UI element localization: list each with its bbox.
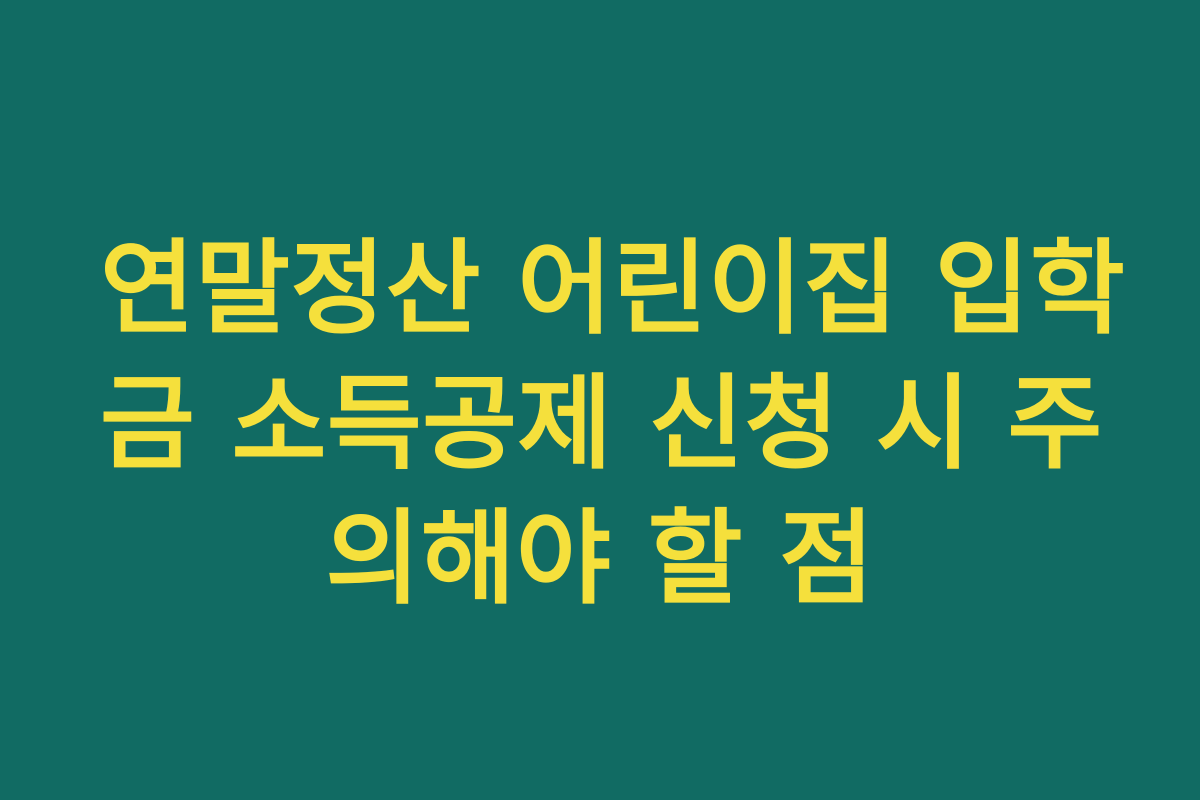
- headline-line-3: 의해야 할 점: [100, 492, 1100, 627]
- headline-line-1: 연말정산 어린이집 입학: [100, 222, 1100, 357]
- headline-text-block: 연말정산 어린이집 입학 금 소득공제 신청 시 주 의해야 할 점: [100, 222, 1100, 627]
- headline-line-2: 금 소득공제 신청 시 주: [100, 357, 1100, 492]
- thumbnail-canvas: 연말정산 어린이집 입학 금 소득공제 신청 시 주 의해야 할 점: [0, 0, 1200, 800]
